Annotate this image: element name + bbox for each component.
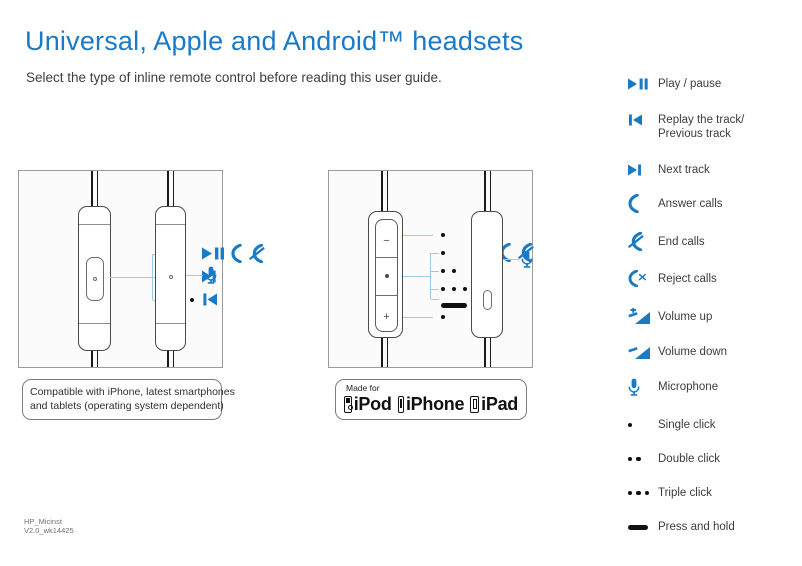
universal-bracket — [152, 254, 153, 300]
mic-seam-bottom — [156, 323, 185, 324]
click-dot — [441, 251, 445, 255]
legend-label: Microphone — [658, 378, 718, 394]
legend-label: Press and hold — [658, 519, 735, 534]
volume-down-button-label[interactable]: − — [376, 236, 397, 247]
apple-remote-diagram[interactable]: − + — [328, 170, 533, 368]
microphone-icon — [521, 250, 533, 268]
legend-label: Play / pause — [658, 76, 721, 91]
mic-seam-top — [156, 224, 185, 225]
microphone-icon — [628, 378, 658, 396]
volume-up-lead — [403, 317, 433, 318]
previous-track-icon — [628, 112, 658, 128]
legend-label: Double click — [658, 451, 720, 466]
volume-down-icon — [628, 344, 658, 360]
footer-line-2: V2.0_wk14425 — [24, 526, 74, 535]
microphone-lead — [503, 259, 519, 260]
legend-label: Single click — [658, 417, 716, 432]
center-button-bracket — [430, 253, 431, 299]
universal-remote-diagram[interactable] — [18, 170, 223, 368]
universal-button-lead — [110, 277, 152, 278]
click-dot — [463, 287, 467, 291]
legend-item-single-click: Single click — [628, 417, 798, 433]
reject-call-icon — [628, 270, 658, 287]
end-call-icon — [249, 244, 265, 263]
button-divider-top — [376, 257, 397, 258]
center-button-lead — [403, 276, 430, 277]
caption-line-2: and tablets (operating system dependent) — [30, 399, 214, 413]
legend-label: Triple click — [658, 485, 712, 500]
caption-line-1: Compatible with iPhone, latest smartphon… — [30, 385, 214, 399]
legend-item-microphone: Microphone — [628, 378, 798, 396]
end-call-icon — [628, 232, 658, 251]
legend-item-end-calls: End calls — [628, 232, 798, 251]
legend-item-triple-click: Triple click — [628, 485, 798, 501]
legend-item-volume-up: Volume up — [628, 308, 798, 325]
click-dot — [441, 315, 445, 319]
button-divider-bottom — [376, 295, 397, 296]
legend-label: Volume down — [658, 344, 727, 359]
iphone-label: iPhone — [406, 394, 464, 414]
single-click-icon — [628, 417, 658, 433]
page-subtitle: Select the type of inline remote control… — [26, 70, 442, 85]
user-guide-page: Universal, Apple and Android™ headsets S… — [0, 0, 802, 566]
click-dot — [441, 233, 445, 237]
legend-item-previous-track: Replay the track/ Previous track — [628, 112, 798, 141]
answer-call-icon — [628, 194, 658, 213]
double-click-icon — [628, 451, 658, 467]
legend-label: Reject calls — [658, 270, 717, 286]
legend-item-press-and-hold: Press and hold — [628, 519, 798, 535]
legend-item-reject-calls: Reject calls — [628, 270, 798, 287]
click-dot — [452, 287, 456, 291]
remote-seam-top — [79, 224, 110, 225]
ipod-icon — [344, 396, 352, 413]
footer-line-1: HP_Micinst — [24, 517, 74, 526]
click-dot — [190, 298, 194, 302]
ipad-icon — [470, 396, 479, 413]
answer-call-icon — [231, 244, 242, 263]
ipod-label: iPod — [354, 394, 392, 414]
remote-seam-bottom — [79, 323, 110, 324]
center-button-indicator[interactable] — [385, 274, 389, 278]
legend-label: Next track — [658, 162, 710, 177]
made-for-apple-badge: Made for iPod iPhone iPad — [335, 379, 527, 420]
apple-button-bar[interactable]: − + — [375, 219, 398, 332]
press-hold-bar — [441, 303, 467, 308]
universal-caption-box: Compatible with iPhone, latest smartphon… — [22, 379, 222, 420]
legend-label: Volume up — [658, 308, 712, 324]
universal-button-indicator — [93, 277, 97, 281]
microphone-port — [483, 290, 492, 310]
volume-up-icon — [628, 308, 658, 325]
volume-up-button-label[interactable]: + — [376, 312, 397, 323]
next-track-icon — [628, 162, 658, 178]
ipad-label: iPad — [481, 394, 518, 414]
made-for-device-row: iPod iPhone iPad — [344, 394, 518, 414]
iphone-icon — [398, 396, 404, 413]
legend-item-answer-calls: Answer calls — [628, 194, 798, 213]
triple-click-icon — [628, 485, 658, 501]
previous-track-icon — [202, 293, 217, 306]
microphone-port — [169, 275, 173, 279]
press-hold-icon — [628, 519, 658, 535]
play-pause-icon — [202, 247, 226, 260]
click-dot — [452, 269, 456, 273]
legend-item-play-pause: Play / pause — [628, 76, 798, 92]
apple-remote-body[interactable]: − + — [368, 211, 403, 338]
universal-remote-body[interactable] — [78, 206, 111, 351]
click-dot — [441, 287, 445, 291]
microphone-lead — [186, 275, 203, 276]
page-title: Universal, Apple and Android™ headsets — [25, 26, 523, 57]
made-for-label: Made for — [346, 383, 518, 393]
click-dot — [441, 269, 445, 273]
legend-label: End calls — [658, 232, 705, 249]
volume-down-lead — [403, 235, 433, 236]
legend-item-volume-down: Volume down — [628, 344, 798, 360]
apple-mic-body — [471, 211, 503, 338]
microphone-icon — [205, 266, 217, 284]
legend-item-next-track: Next track — [628, 162, 798, 178]
legend-label: Replay the track/ Previous track — [658, 112, 744, 141]
legend-item-double-click: Double click — [628, 451, 798, 467]
legend-label: Answer calls — [658, 194, 723, 211]
document-footer: HP_Micinst V2.0_wk14425 — [24, 517, 74, 535]
universal-mic-body — [155, 206, 186, 351]
play-pause-icon — [628, 76, 658, 92]
